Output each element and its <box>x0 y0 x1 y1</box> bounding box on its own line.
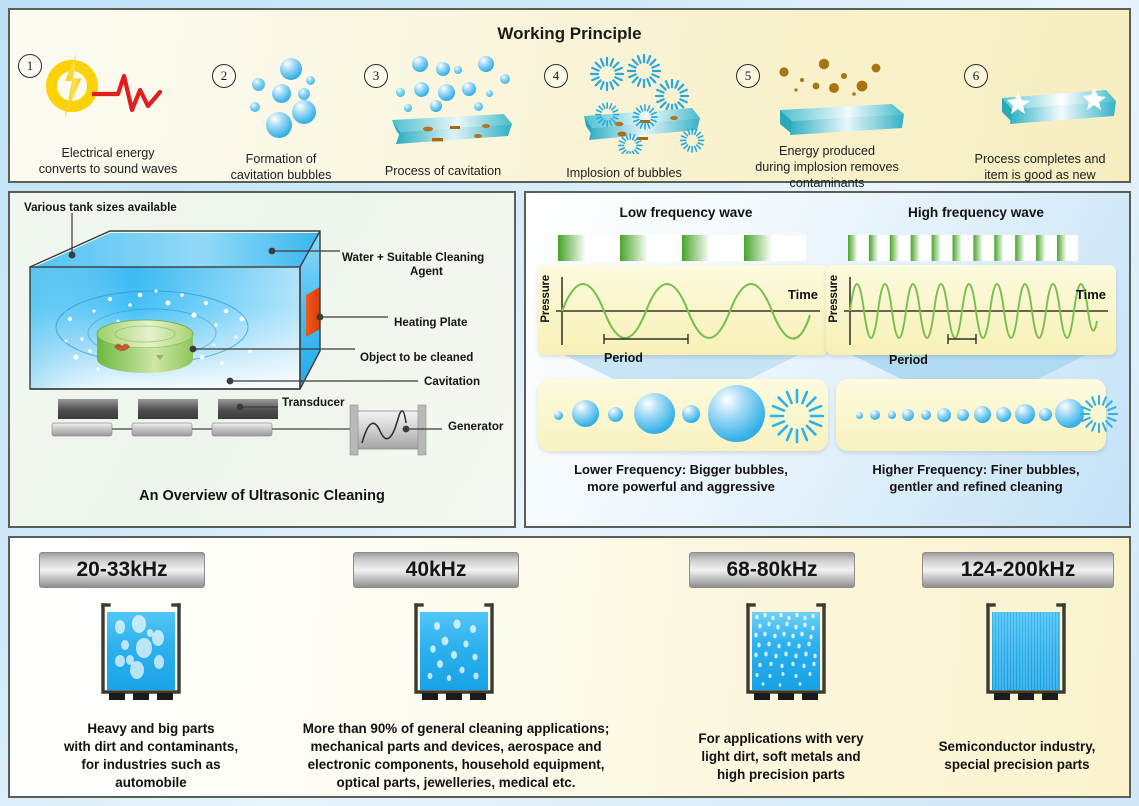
high-frequency-wave-card: Pressure Time <box>826 265 1116 355</box>
tank-overview-title: An Overview of Ultrasonic Cleaning <box>10 488 514 504</box>
ultrasonic-tank-diagram <box>10 199 518 479</box>
high-time-axis-label: Time <box>1076 287 1106 302</box>
band-68-80khz-label: 68-80kHz <box>689 552 855 588</box>
band-40khz-caption-4: optical parts, jewelleries, medical etc. <box>337 774 576 793</box>
band-40khz-caption-1: More than 90% of general cleaning applic… <box>303 720 610 739</box>
band-20-33khz-caption-2: with dirt and contaminants, <box>64 738 238 757</box>
band-40khz-caption-3: electronic components, household equipme… <box>308 756 605 775</box>
step-3-caption-line1: Process of cavitation <box>385 164 501 179</box>
working-principle-title: Working Principle <box>10 24 1129 44</box>
fine-bubbles-beaker-icon <box>732 600 840 710</box>
low-frequency-caption-line1: Lower Frequency: Bigger bubbles, <box>526 461 836 478</box>
low-frequency-bubble-card <box>538 379 828 451</box>
band-40khz-caption-2: mechanical parts and devices, aerospace … <box>310 738 601 757</box>
band-68-80khz-caption-1: For applications with very <box>698 730 863 749</box>
low-period-label: Period <box>604 351 643 365</box>
band-68-80khz-caption-3: high precision parts <box>717 766 845 785</box>
tank-overview-panel: Various tank sizes available Water + Sui… <box>8 191 516 528</box>
low-frequency-density-bars <box>558 235 808 261</box>
band-124-200khz-caption-1: Semiconductor industry, <box>939 738 1096 757</box>
step-6-caption-line2: item is good as new <box>984 168 1095 183</box>
step-6-number: 6 <box>964 64 988 88</box>
step-5-caption-line1: Energy produced <box>779 144 875 159</box>
cavitation-process-icon <box>386 54 516 150</box>
lightning-bolt-icon <box>38 56 166 118</box>
step-2-number: 2 <box>212 64 236 88</box>
step-6-caption-line1: Process completes and <box>975 152 1106 167</box>
step-1-caption-line2: converts to sound waves <box>39 162 178 177</box>
low-frequency-waveform <box>538 265 828 355</box>
high-pressure-axis-label: Pressure <box>828 275 840 323</box>
medium-bubbles-beaker-icon <box>400 600 508 710</box>
step-5-caption-line2: during implosion removes <box>755 160 899 175</box>
coarse-bubbles-beaker-icon <box>87 600 195 710</box>
band-124-200khz-caption-2: special precision parts <box>944 756 1089 775</box>
step-2-caption-line1: Formation of <box>246 152 317 167</box>
low-time-axis-label: Time <box>788 287 818 302</box>
high-frequency-caption-line2: gentler and refined cleaning <box>826 478 1126 495</box>
low-frequency-heading: Low frequency wave <box>536 205 836 220</box>
step-5-caption-line3: contaminants <box>790 176 865 191</box>
bubble-implosion-icon <box>564 54 714 159</box>
step-3-number: 3 <box>364 64 388 88</box>
high-frequency-waveform <box>826 265 1116 355</box>
band-124-200khz-label: 124-200kHz <box>922 552 1114 588</box>
cavitation-bubbles-icon <box>240 54 332 140</box>
high-period-label: Period <box>889 353 928 367</box>
step-4-caption-line1: Implosion of bubbles <box>566 166 682 181</box>
frequency-bands-panel: 20-33kHz Heavy and big <box>8 536 1131 798</box>
frequency-compare-panel: Low frequency wave High frequency wave <box>524 191 1131 528</box>
working-principle-panel: Working Principle 1 Electrical energy co… <box>8 8 1131 183</box>
high-frequency-implosion-icon <box>1078 393 1120 435</box>
red-waveform-icon <box>92 70 164 118</box>
high-frequency-caption-line1: Higher Frequency: Finer bubbles, <box>826 461 1126 478</box>
low-frequency-caption-line2: more powerful and aggressive <box>526 478 836 495</box>
high-frequency-heading: High frequency wave <box>826 205 1126 220</box>
step-5-number: 5 <box>736 64 760 88</box>
step-2-caption-line2: cavitation bubbles <box>231 168 332 183</box>
band-68-80khz-caption-2: light dirt, soft metals and <box>701 748 860 767</box>
low-frequency-implosion-icon <box>766 385 828 447</box>
step-1-caption-line1: Electrical energy <box>61 146 154 161</box>
ultrafine-bubbles-beaker-icon <box>972 600 1080 710</box>
band-20-33khz-caption-4: automobile <box>115 774 186 793</box>
band-20-33khz-caption-1: Heavy and big parts <box>87 720 214 739</box>
band-20-33khz-label: 20-33kHz <box>39 552 205 588</box>
low-frequency-wave-card: Pressure Time <box>538 265 828 355</box>
clean-item-icon <box>994 82 1124 147</box>
band-20-33khz-caption-3: for industries such as <box>81 756 220 775</box>
low-pressure-axis-label: Pressure <box>540 275 552 323</box>
high-frequency-density-bars <box>848 235 1078 261</box>
contaminant-removal-icon <box>766 54 914 151</box>
high-frequency-bubble-card <box>836 379 1106 451</box>
band-40khz-label: 40kHz <box>353 552 519 588</box>
